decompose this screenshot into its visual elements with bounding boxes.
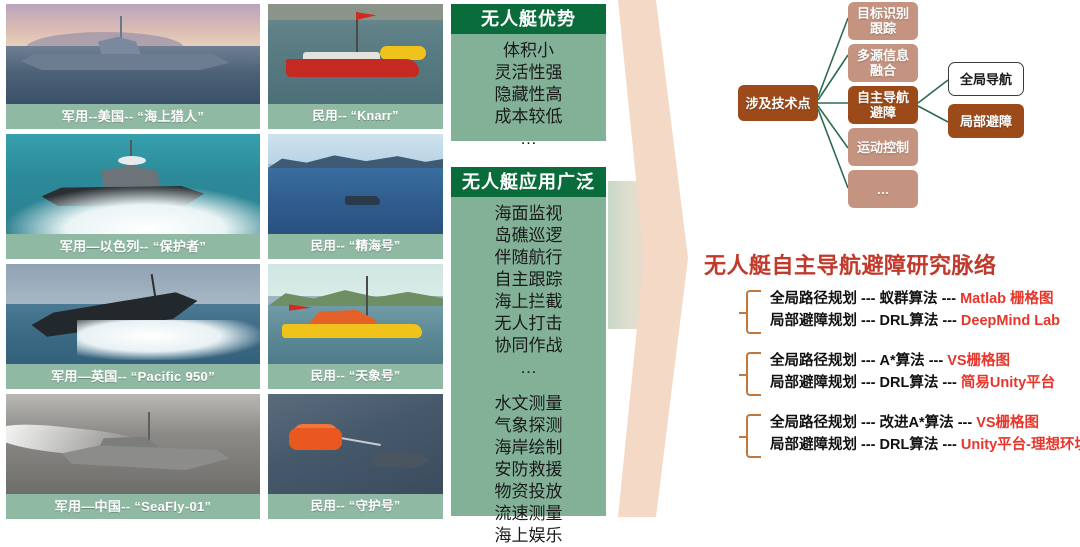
diagram-node-target-recognition[interactable]: 目标识别跟踪 bbox=[848, 2, 918, 40]
photo-caption: 军用—中国-- “SeaFly-01” bbox=[6, 494, 260, 519]
research-task: 局部避障规划 bbox=[770, 313, 857, 329]
diagram-node-multi-source-fusion[interactable]: 多源信息融合 bbox=[848, 44, 918, 82]
list-item: 海上娱乐 bbox=[451, 525, 606, 547]
photo-card-knarr[interactable]: 民用-- “Knarr” bbox=[268, 4, 443, 129]
photo-image-sea-hunter bbox=[6, 4, 260, 104]
panel-advantages: 无人艇优势 体积小 灵活性强 隐藏性高 成本较低 … bbox=[451, 4, 606, 141]
research-algorithm: 蚁群算法 bbox=[880, 291, 938, 307]
photo-caption: 民用-- “精海号” bbox=[268, 234, 443, 259]
research-algorithm: DRL算法 bbox=[880, 313, 939, 329]
photo-image-protector bbox=[6, 134, 260, 234]
separator: --- bbox=[857, 437, 880, 453]
brace-icon bbox=[746, 414, 761, 458]
photo-caption: 军用—英国-- “Pacific 950” bbox=[6, 364, 260, 389]
research-algorithm: DRL算法 bbox=[880, 437, 939, 453]
research-row: 全局路径规划 --- 蚁群算法 --- Matlab 栅格图 bbox=[770, 288, 1080, 310]
diagram-node-motion-control[interactable]: 运动控制 bbox=[848, 128, 918, 166]
panel-advantages-list: 体积小 灵活性强 隐藏性高 成本较低 … bbox=[451, 34, 606, 150]
research-algorithm: 改进A*算法 bbox=[880, 415, 954, 431]
research-title: 无人艇自主导航避障研究脉络 bbox=[704, 248, 997, 280]
list-item-ellipsis: … bbox=[451, 357, 606, 379]
list-item: 无人打击 bbox=[451, 313, 606, 335]
slide-root: 军用--美国-- “海上猎人” 民用-- “Knarr” 军用—以色列-- “保… bbox=[0, 0, 1080, 517]
panel-applications-list: 海面监视 岛礁巡逻 伴随航行 自主跟踪 海上拦截 无人打击 协同作战 … 水文测… bbox=[451, 197, 606, 547]
research-row: 局部避障规划 --- DRL算法 --- Unity平台-理想环境 bbox=[770, 434, 1080, 456]
separator: --- bbox=[938, 375, 961, 391]
list-item: 海面监视 bbox=[451, 203, 606, 225]
list-item: 海岸绘制 bbox=[451, 437, 606, 459]
technology-points-diagram: 涉及技术点 目标识别跟踪 多源信息融合 自主导航避障 运动控制 … 全局导航 局… bbox=[730, 0, 1080, 215]
research-outline: 无人艇自主导航避障研究脉络 全局路径规划 --- 蚁群算法 --- Matlab… bbox=[700, 248, 1080, 513]
research-row: 全局路径规划 --- A*算法 --- VS栅格图 bbox=[770, 350, 1080, 372]
photo-card-pacific-950[interactable]: 军用—英国-- “Pacific 950” bbox=[6, 264, 260, 389]
research-algorithm: A*算法 bbox=[880, 353, 925, 369]
list-item: 岛礁巡逻 bbox=[451, 225, 606, 247]
diagram-node-root[interactable]: 涉及技术点 bbox=[738, 85, 818, 121]
photo-image-jinghai bbox=[268, 134, 443, 234]
brace-icon bbox=[746, 290, 761, 334]
photo-caption: 民用-- “Knarr” bbox=[268, 104, 443, 129]
separator: --- bbox=[857, 291, 880, 307]
photo-caption: 民用-- “天象号” bbox=[268, 364, 443, 389]
list-item: 海上拦截 bbox=[451, 291, 606, 313]
photo-card-tianxiang[interactable]: 民用-- “天象号” bbox=[268, 264, 443, 389]
usv-photo-grid: 军用--美国-- “海上猎人” 民用-- “Knarr” 军用—以色列-- “保… bbox=[6, 4, 443, 514]
photo-caption: 军用—以色列-- “保护者” bbox=[6, 234, 260, 259]
research-task: 全局路径规划 bbox=[770, 291, 857, 307]
list-item: 协同作战 bbox=[451, 335, 606, 357]
research-platform: Unity平台-理想环境 bbox=[961, 437, 1080, 453]
diagram-node-global-navigation[interactable]: 全局导航 bbox=[948, 62, 1024, 96]
research-platform: DeepMind Lab bbox=[961, 313, 1060, 329]
list-item: 灵活性强 bbox=[451, 62, 606, 84]
separator: --- bbox=[857, 415, 880, 431]
right-pointing-arrow-icon bbox=[618, 0, 688, 517]
list-item: 安防救援 bbox=[451, 459, 606, 481]
research-row: 局部避障规划 --- DRL算法 --- DeepMind Lab bbox=[770, 310, 1080, 332]
separator: --- bbox=[857, 375, 880, 391]
separator: --- bbox=[938, 437, 961, 453]
brace-icon bbox=[746, 352, 761, 396]
photo-card-jinghai[interactable]: 民用-- “精海号” bbox=[268, 134, 443, 259]
photo-image-knarr bbox=[268, 4, 443, 104]
photo-card-protector[interactable]: 军用—以色列-- “保护者” bbox=[6, 134, 260, 259]
separator: --- bbox=[938, 313, 961, 329]
research-task: 局部避障规划 bbox=[770, 437, 857, 453]
panel-advantages-title: 无人艇优势 bbox=[451, 4, 606, 34]
list-item: 水文测量 bbox=[451, 393, 606, 415]
list-item: 自主跟踪 bbox=[451, 269, 606, 291]
photo-caption: 民用-- “守护号” bbox=[268, 494, 443, 519]
research-platform: Matlab 栅格图 bbox=[960, 291, 1053, 307]
photo-card-shouhu[interactable]: 民用-- “守护号” bbox=[268, 394, 443, 519]
list-item: 物资投放 bbox=[451, 481, 606, 503]
research-row: 全局路径规划 --- 改进A*算法 --- VS栅格图 bbox=[770, 412, 1080, 434]
diagram-node-autonomous-navigation[interactable]: 自主导航避障 bbox=[848, 86, 918, 124]
separator: --- bbox=[857, 313, 880, 329]
research-task: 全局路径规划 bbox=[770, 353, 857, 369]
research-platform: VS栅格图 bbox=[976, 415, 1039, 431]
separator: --- bbox=[954, 415, 977, 431]
list-item: 成本较低 bbox=[451, 106, 606, 128]
list-item: 流速测量 bbox=[451, 503, 606, 525]
research-row: 局部避障规划 --- DRL算法 --- 简易Unity平台 bbox=[770, 372, 1080, 394]
research-platform: 简易Unity平台 bbox=[961, 375, 1055, 391]
research-group-1: 全局路径规划 --- 蚁群算法 --- Matlab 栅格图 局部避障规划 --… bbox=[746, 288, 1080, 332]
research-group-3: 全局路径规划 --- 改进A*算法 --- VS栅格图 局部避障规划 --- D… bbox=[746, 412, 1080, 456]
separator: --- bbox=[857, 353, 880, 369]
panel-applications-title: 无人艇应用广泛 bbox=[451, 167, 606, 197]
diagram-node-ellipsis[interactable]: … bbox=[848, 170, 918, 208]
panel-applications: 无人艇应用广泛 海面监视 岛礁巡逻 伴随航行 自主跟踪 海上拦截 无人打击 协同… bbox=[451, 167, 606, 516]
photo-card-seafly-01[interactable]: 军用—中国-- “SeaFly-01” bbox=[6, 394, 260, 519]
research-platform: VS栅格图 bbox=[947, 353, 1010, 369]
photo-image-pacific-950 bbox=[6, 264, 260, 364]
list-item: 隐藏性高 bbox=[451, 84, 606, 106]
research-algorithm: DRL算法 bbox=[880, 375, 939, 391]
separator: --- bbox=[938, 291, 961, 307]
photo-image-shouhu bbox=[268, 394, 443, 494]
photo-caption: 军用--美国-- “海上猎人” bbox=[6, 104, 260, 129]
photo-card-sea-hunter[interactable]: 军用--美国-- “海上猎人” bbox=[6, 4, 260, 129]
photo-image-seafly-01 bbox=[6, 394, 260, 494]
list-item-ellipsis: … bbox=[451, 128, 606, 150]
list-item: 气象探测 bbox=[451, 415, 606, 437]
photo-image-tianxiang bbox=[268, 264, 443, 364]
research-group-2: 全局路径规划 --- A*算法 --- VS栅格图 局部避障规划 --- DRL… bbox=[746, 350, 1080, 394]
diagram-node-local-obstacle-avoidance[interactable]: 局部避障 bbox=[948, 104, 1024, 138]
list-spacer bbox=[451, 379, 606, 393]
list-item: 体积小 bbox=[451, 40, 606, 62]
research-task: 全局路径规划 bbox=[770, 415, 857, 431]
separator: --- bbox=[925, 353, 948, 369]
list-item: 伴随航行 bbox=[451, 247, 606, 269]
research-task: 局部避障规划 bbox=[770, 375, 857, 391]
